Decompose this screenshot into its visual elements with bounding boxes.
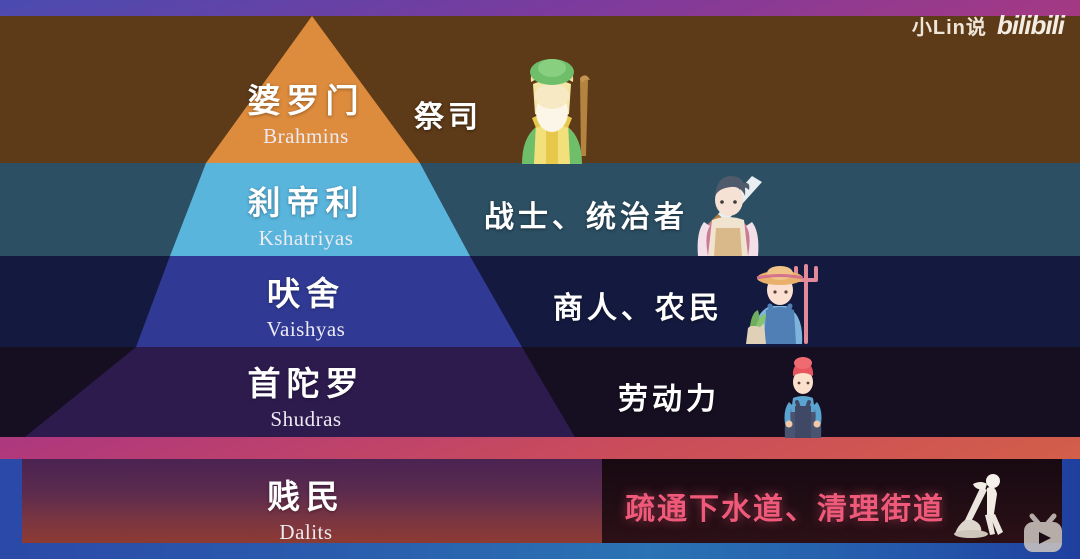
tier-2-name-block: 刹帝利 Kshatriyas bbox=[196, 186, 416, 249]
tier-1-name-cn: 婆罗门 bbox=[196, 84, 416, 117]
pyramid-tier-3[interactable] bbox=[0, 256, 1080, 347]
tier-4-name-block: 首陀罗 Shudras bbox=[196, 367, 416, 430]
channel-watermark: 小Lin说 bilibili bbox=[912, 10, 1064, 41]
tier-3-name-cn: 吠舍 bbox=[196, 277, 416, 310]
bilibili-logo: bilibili bbox=[997, 10, 1064, 41]
tier-4-name-en: Shudras bbox=[196, 409, 416, 430]
warrior-figure bbox=[686, 170, 770, 261]
outcaste-role-label: 疏通下水道、清理街道 bbox=[625, 484, 945, 528]
tier-4-role-label: 劳动力 bbox=[618, 374, 720, 418]
priest-figure bbox=[502, 56, 602, 169]
tier-1-role-label: 祭司 bbox=[414, 92, 482, 136]
tier-2-role-label: 战士、统治者 bbox=[484, 192, 688, 236]
tier-4-name-cn: 首陀罗 bbox=[196, 367, 416, 400]
tier-2-name-en: Kshatriyas bbox=[196, 228, 416, 249]
tier-3-name-block: 吠舍 Vaishyas bbox=[196, 277, 416, 340]
outcaste-name-en: Dalits bbox=[196, 522, 416, 543]
tier-1-name-block: 婆罗门 Brahmins bbox=[196, 84, 416, 147]
outcaste-name-block: 贱民 Dalits bbox=[196, 480, 416, 543]
pyramid-tier-4[interactable] bbox=[0, 347, 1080, 437]
channel-name: 小Lin说 bbox=[912, 11, 987, 40]
video-frame: 婆罗门 Brahmins 刹帝利 Kshatriyas 吠舍 Vaishyas … bbox=[0, 0, 1080, 559]
outcaste-name-cn: 贱民 bbox=[196, 480, 416, 513]
tier-3-name-en: Vaishyas bbox=[196, 319, 416, 340]
farmer-figure bbox=[740, 262, 820, 349]
tier-3-role-label: 商人、农民 bbox=[553, 283, 723, 327]
laborer-figure bbox=[775, 352, 831, 443]
tier-2-name-cn: 刹帝利 bbox=[196, 186, 416, 219]
bilibili-tv-icon bbox=[1020, 510, 1066, 557]
tier-1-name-en: Brahmins bbox=[196, 126, 416, 147]
street-sweeper-figure bbox=[947, 472, 1019, 547]
